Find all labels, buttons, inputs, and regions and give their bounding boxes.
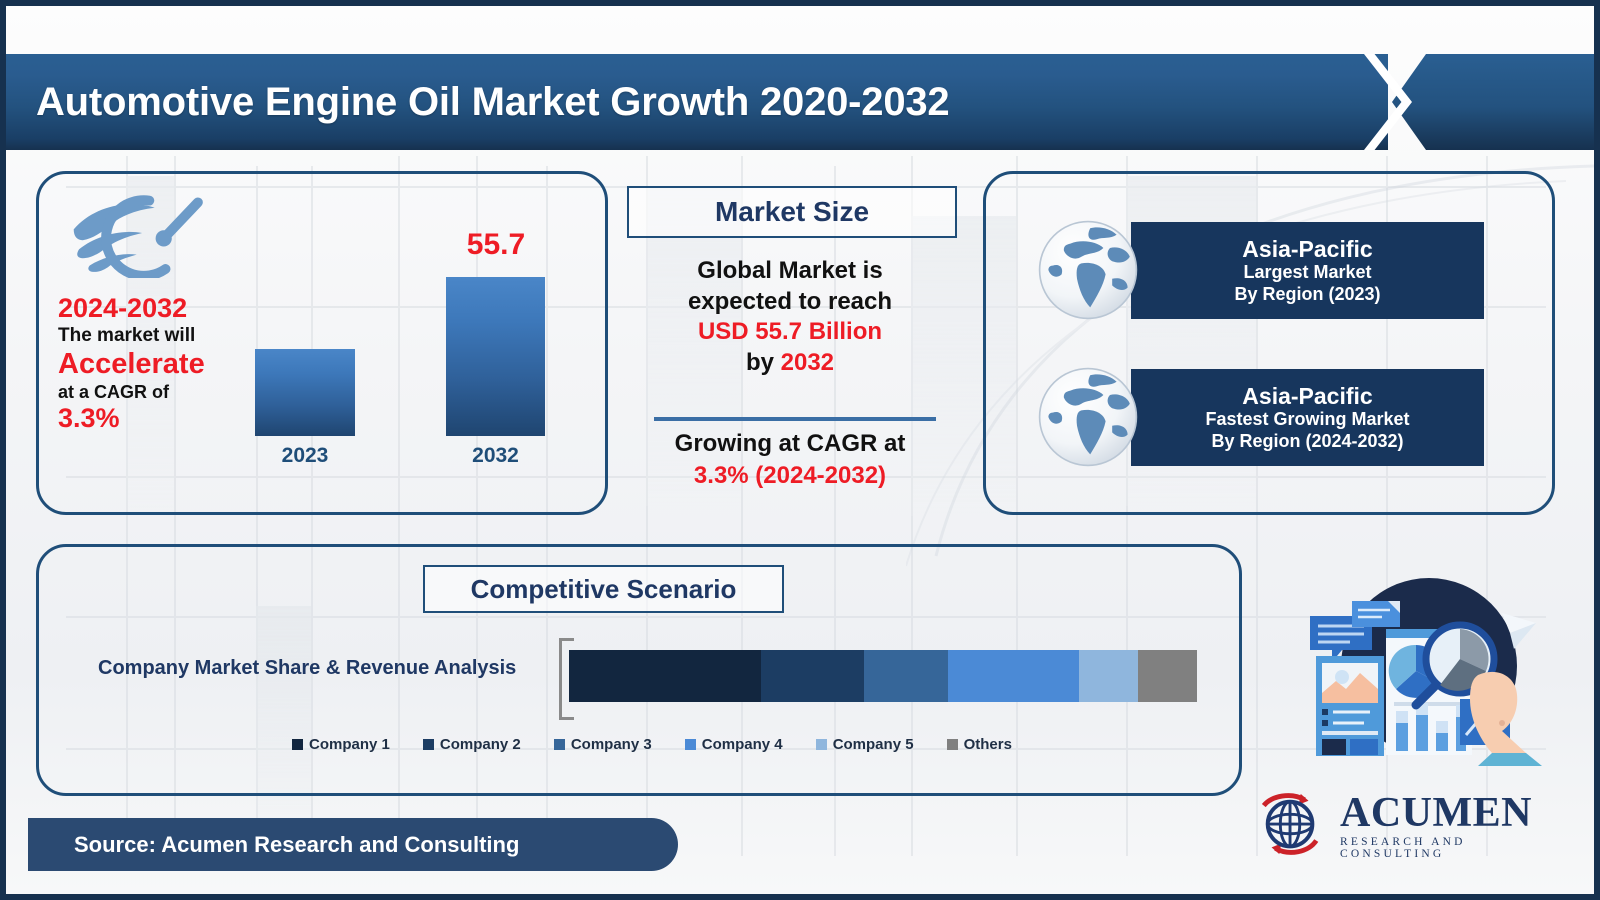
region-card-detail: By Region (2023) (1234, 284, 1380, 306)
market-size-divider (654, 417, 936, 421)
market-share-segment (948, 650, 1079, 702)
header-tail-shape (1392, 54, 1598, 150)
legend-item: Others (947, 736, 1012, 753)
legend-item: Company 1 (292, 736, 390, 753)
legend-swatch-icon (292, 739, 303, 750)
market-share-label: Company Market Share & Revenue Analysis (98, 657, 516, 680)
region-card-fastest: Asia-Pacific Fastest Growing Market By R… (1131, 369, 1484, 466)
acumen-logo-tagline: RESEARCH AND CONSULTING (1340, 836, 1572, 860)
region-card-title: Asia-Pacific (1242, 236, 1372, 263)
legend-label: Company 3 (571, 736, 652, 753)
cagr-accelerate: Accelerate (58, 348, 288, 380)
globe-icon (1033, 362, 1143, 472)
market-size-footer: Growing at CAGR at 3.3% (2024-2032) (627, 428, 953, 491)
header-banner: Automotive Engine Oil Market Growth 2020… (6, 54, 1388, 150)
legend-item: Company 2 (423, 736, 521, 753)
market-research-analysis-illustration (1264, 571, 1554, 766)
market-size-by: by (746, 349, 774, 376)
cagr-text-block: 2024-2032 The market will Accelerate at … (58, 293, 288, 433)
market-size-heading-box: Market Size (627, 186, 957, 238)
bar-2032 (446, 277, 545, 436)
market-share-legend: Company 1Company 2Company 3Company 4Comp… (292, 736, 1012, 753)
legend-label: Company 1 (309, 736, 390, 753)
market-size-heading: Market Size (715, 196, 869, 228)
globe-icon (1033, 215, 1143, 325)
legend-item: Company 5 (816, 736, 914, 753)
market-size-value: USD 55.7 Billion (627, 317, 953, 348)
market-size-line2: expected to reach (627, 287, 953, 318)
bar-label-2032: 2032 (446, 444, 545, 468)
market-share-segment (1079, 650, 1138, 702)
infographic-root: Automotive Engine Oil Market Growth 2020… (0, 0, 1600, 900)
region-card-subtitle: Largest Market (1243, 262, 1371, 284)
legend-swatch-icon (816, 739, 827, 750)
market-share-stacked-bar (569, 650, 1197, 702)
legend-label: Company 2 (440, 736, 521, 753)
legend-label: Company 5 (833, 736, 914, 753)
region-card-detail: By Region (2024-2032) (1211, 431, 1403, 453)
market-share-segment (1138, 650, 1197, 702)
acumen-logo: ACUMEN RESEARCH AND CONSULTING (1252, 788, 1572, 866)
bar-label-2023: 2023 (255, 444, 355, 468)
competitive-heading-box: Competitive Scenario (423, 565, 784, 613)
region-card-largest: Asia-Pacific Largest Market By Region (2… (1131, 222, 1484, 319)
legend-item: Company 3 (554, 736, 652, 753)
bar-value-2032: 55.7 (436, 228, 556, 262)
cagr-foot-line1: Growing at CAGR at (627, 428, 953, 460)
market-share-segment (569, 650, 761, 702)
cagr-value: 3.3% (58, 403, 288, 433)
legend-swatch-icon (685, 739, 696, 750)
region-card-title: Asia-Pacific (1242, 383, 1372, 410)
market-share-segment (864, 650, 948, 702)
legend-swatch-icon (947, 739, 958, 750)
source-banner: Source: Acumen Research and Consulting (28, 818, 678, 871)
region-card-subtitle: Fastest Growing Market (1205, 409, 1409, 431)
cagr-period: 2024-2032 (58, 293, 288, 323)
page-title: Automotive Engine Oil Market Growth 2020… (36, 80, 949, 125)
market-size-by-year: by 2032 (627, 348, 953, 379)
legend-label: Company 4 (702, 736, 783, 753)
market-size-year: 2032 (781, 349, 834, 376)
cagr-line2: at a CAGR of (58, 382, 288, 402)
competitive-heading: Competitive Scenario (471, 574, 737, 605)
market-size-line1: Global Market is (627, 256, 953, 287)
acumen-logo-name: ACUMEN (1340, 792, 1572, 834)
bar-2023 (255, 349, 355, 436)
legend-swatch-icon (423, 739, 434, 750)
speedometer-gauge-icon (66, 188, 211, 278)
source-text: Source: Acumen Research and Consulting (74, 832, 519, 858)
legend-item: Company 4 (685, 736, 783, 753)
legend-swatch-icon (554, 739, 565, 750)
legend-label: Others (964, 736, 1012, 753)
acumen-globe-logo-icon (1252, 790, 1330, 860)
acumen-logo-text: ACUMEN RESEARCH AND CONSULTING (1340, 792, 1572, 860)
cagr-foot-value: 3.3% (2024-2032) (627, 460, 953, 492)
market-share-segment (761, 650, 864, 702)
market-size-body: Global Market is expected to reach USD 5… (627, 256, 953, 379)
cagr-line1: The market will (58, 325, 288, 346)
